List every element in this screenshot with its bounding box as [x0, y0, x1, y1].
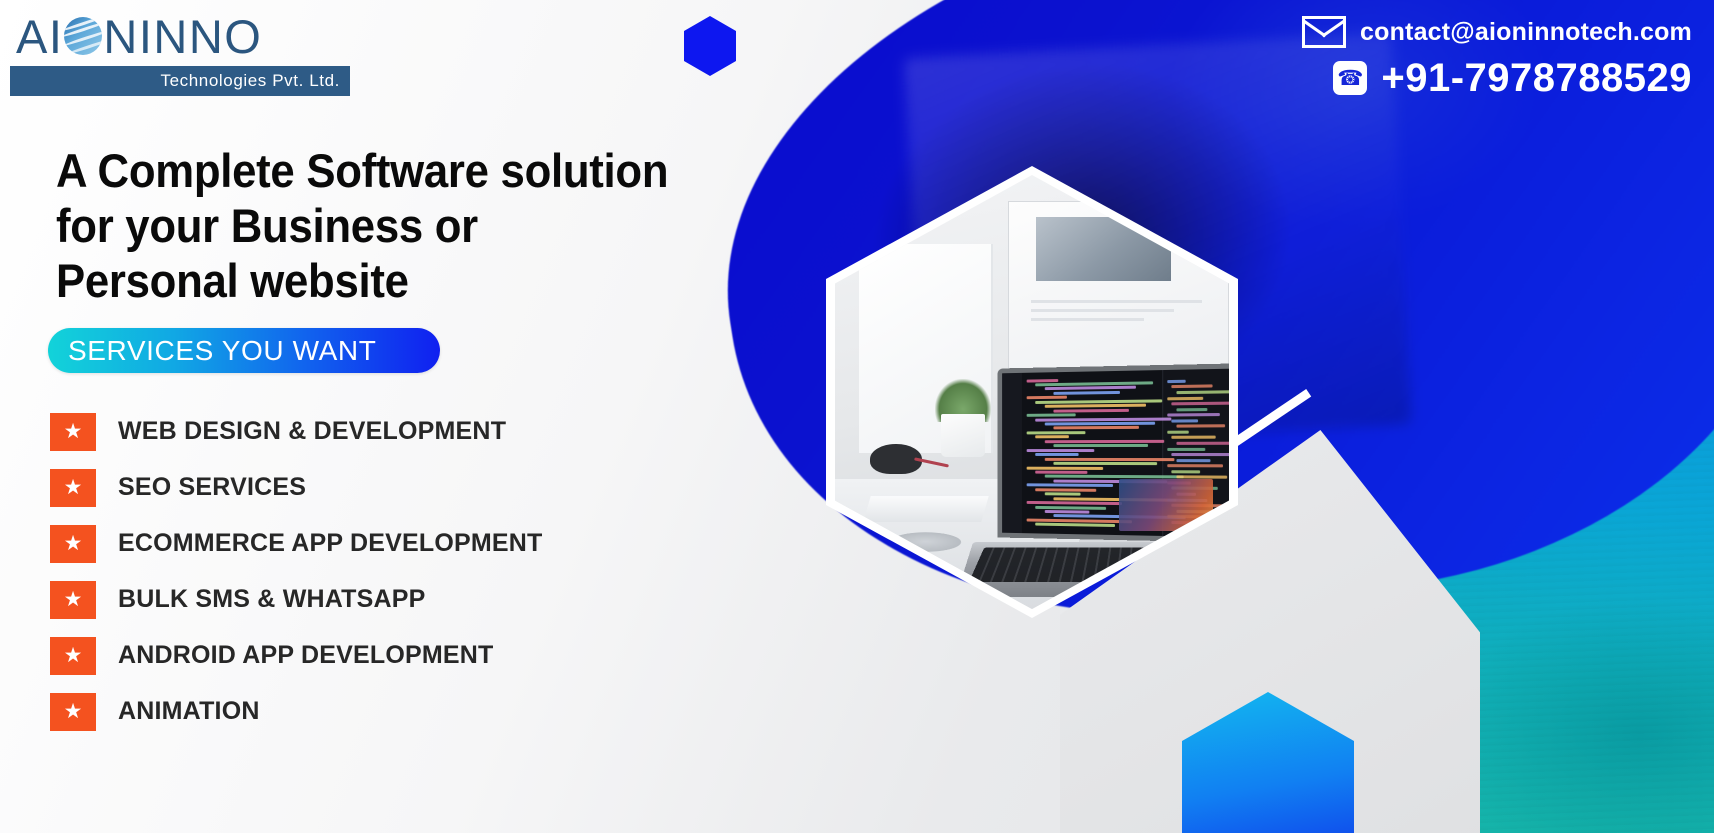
photo-keyboard — [863, 496, 989, 522]
headline-line-2: for your Business or — [56, 199, 744, 254]
photo-code-line — [1044, 457, 1174, 460]
list-item[interactable]: ★ WEB DESIGN & DEVELOPMENT — [50, 408, 670, 455]
photo-code-line — [1044, 510, 1089, 514]
star-icon: ★ — [50, 413, 96, 451]
photo-code-line — [1176, 390, 1229, 394]
photo-code-line — [1035, 488, 1096, 492]
photo-code-line — [1053, 426, 1138, 430]
photo-desktop-wallpaper — [1119, 479, 1214, 531]
service-label: BULK SMS & WHATSAPP — [118, 585, 426, 614]
photo-code-line — [1044, 404, 1145, 408]
photo-code-line — [1176, 408, 1207, 411]
photo-code-line — [1167, 447, 1205, 450]
service-label: SEO SERVICES — [118, 473, 306, 502]
photo-code-line — [1053, 462, 1157, 465]
globe-icon — [64, 17, 102, 55]
photo-code-line — [1171, 419, 1197, 422]
service-label: ANIMATION — [118, 697, 260, 726]
photo-code-line — [1026, 379, 1057, 383]
contact-email[interactable]: contact@aioninnotech.com — [1360, 18, 1692, 47]
list-item[interactable]: ★ ANDROID APP DEVELOPMENT — [50, 632, 670, 679]
photo-code-line — [1026, 413, 1076, 416]
photo-code-line — [1171, 453, 1229, 456]
star-icon: ★ — [50, 637, 96, 675]
phone-icon: ☎ — [1333, 61, 1367, 95]
photo-plant-pot — [941, 414, 984, 457]
company-logo[interactable]: A I NINNO Technologies Pvt. Ltd. — [10, 8, 350, 96]
photo-code-line — [1167, 464, 1223, 467]
service-label: ECOMMERCE APP DEVELOPMENT — [118, 529, 543, 558]
photo-code-line — [1053, 444, 1148, 447]
services-list: ★ WEB DESIGN & DEVELOPMENT ★ SEO SERVICE… — [50, 408, 670, 744]
mail-icon — [1302, 16, 1346, 48]
star-icon: ★ — [50, 693, 96, 731]
photo-code-line — [1167, 380, 1186, 383]
photo-code-line — [1167, 430, 1189, 433]
page-title: A Complete Software solution for your Bu… — [56, 144, 744, 309]
headline-line-3: Personal website — [56, 254, 744, 309]
photo-code-line — [1044, 422, 1155, 426]
photo-code-line — [1176, 425, 1224, 428]
photo-code-line — [1044, 492, 1080, 495]
list-item[interactable]: ★ BULK SMS & WHATSAPP — [50, 576, 670, 623]
list-item[interactable]: ★ ANIMATION — [50, 688, 670, 735]
photo-code-line — [1044, 440, 1164, 443]
contact-block: contact@aioninnotech.com ☎ +91-797878852… — [1302, 16, 1692, 98]
photo-code-line — [1167, 396, 1203, 400]
photo-code-line — [1167, 413, 1220, 417]
photo-code-line — [1035, 505, 1105, 509]
photo-code-line — [1026, 501, 1122, 505]
contact-phone[interactable]: +91-7978788529 — [1381, 58, 1692, 98]
photo-code-line — [1026, 396, 1066, 400]
contact-email-row[interactable]: contact@aioninnotech.com — [1302, 16, 1692, 48]
photo-code-line — [1035, 523, 1115, 527]
headline-line-1: A Complete Software solution — [56, 144, 744, 199]
photo-code-line — [1035, 417, 1171, 421]
logo-tagline-bar: Technologies Pvt. Ltd. — [10, 66, 350, 96]
photo-code-line — [1026, 466, 1103, 469]
star-icon: ★ — [50, 469, 96, 507]
logo-wordmark: A I NINNO — [10, 8, 350, 64]
photo-code-line — [1035, 436, 1069, 439]
hexagon-icon-top — [684, 16, 736, 76]
list-item[interactable]: ★ SEO SERVICES — [50, 464, 670, 511]
photo-code-line — [1171, 402, 1229, 406]
photo-code-line — [1026, 431, 1085, 434]
photo-code-line — [1053, 408, 1129, 412]
service-label: WEB DESIGN & DEVELOPMENT — [118, 417, 506, 446]
photo-code-line — [1026, 484, 1112, 488]
logo-letter-i: I — [49, 13, 64, 60]
photo-code-line — [1035, 471, 1087, 474]
logo-tagline: Technologies Pvt. Ltd. — [160, 71, 340, 91]
star-icon: ★ — [50, 525, 96, 563]
services-badge: SERVICES YOU WANT — [48, 328, 440, 373]
logo-letters-rest: NINNO — [103, 13, 262, 60]
service-label: ANDROID APP DEVELOPMENT — [118, 641, 493, 670]
photo-code-line — [1176, 442, 1229, 445]
photo-code-line — [1176, 459, 1210, 462]
photo-code-gutter — [1002, 373, 1022, 533]
photo-code-line — [1035, 453, 1078, 456]
list-item[interactable]: ★ ECOMMERCE APP DEVELOPMENT — [50, 520, 670, 567]
photo-code-line — [1026, 449, 1094, 452]
logo-letter-a: A — [16, 13, 49, 60]
photo-code-line — [1044, 386, 1136, 390]
promo-banner: A I NINNO Technologies Pvt. Ltd. contact… — [0, 0, 1714, 833]
photo-code-line — [1171, 470, 1200, 473]
star-icon: ★ — [50, 581, 96, 619]
photo-code-line — [1053, 391, 1119, 395]
contact-phone-row[interactable]: ☎ +91-7978788529 — [1302, 58, 1692, 98]
photo-monitor-text-lines — [1031, 300, 1202, 327]
